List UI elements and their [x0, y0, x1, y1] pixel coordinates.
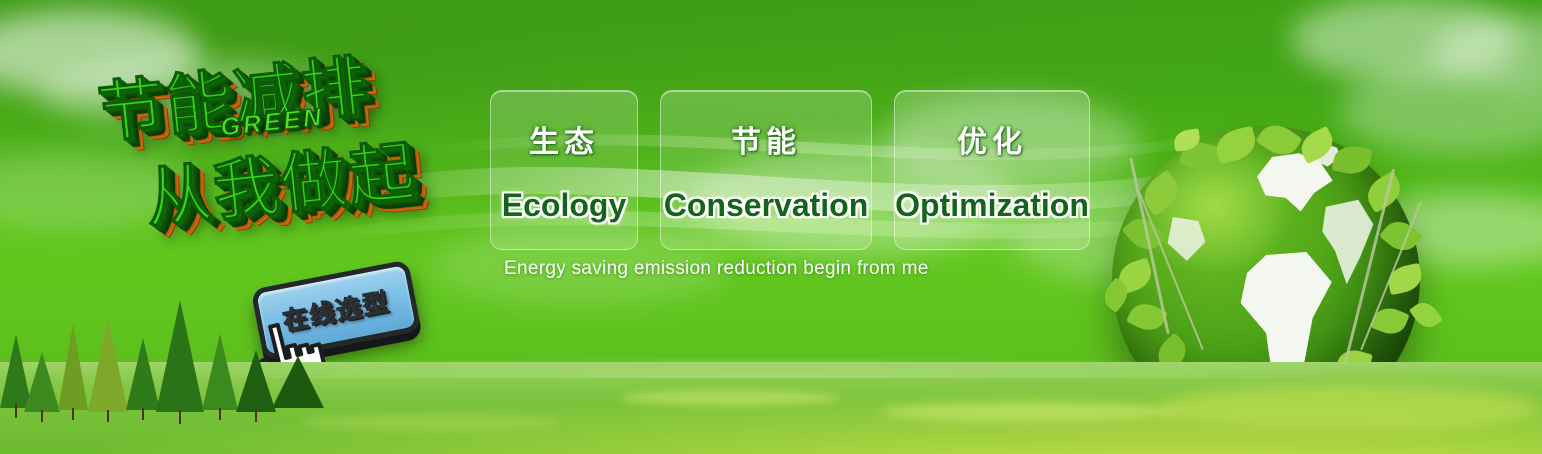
cloud-icon — [1290, 0, 1520, 82]
banner-tagline: Energy saving emission reduction begin f… — [504, 258, 929, 280]
grass-texture — [1160, 384, 1540, 432]
feature-cards: 生态 Ecology 节能 Conservation 优化 Optimizati… — [490, 90, 1090, 250]
feature-card-en-label: Optimization — [895, 187, 1089, 224]
tree-trunk — [41, 410, 43, 422]
online-selection-label: 在线选型 — [280, 282, 393, 338]
tree-trunk — [15, 404, 17, 418]
grass-texture — [620, 390, 840, 406]
feature-card-conservation[interactable]: 节能 Conservation — [660, 90, 872, 250]
feature-card-en-label: Ecology — [502, 187, 626, 224]
cloud-icon — [1430, 16, 1542, 86]
tree-trunk — [142, 408, 144, 420]
tree-trunk — [72, 408, 74, 420]
feature-card-cn-label: 生态 — [529, 117, 599, 161]
feature-card-optimization[interactable]: 优化 Optimization — [894, 90, 1090, 250]
grass-texture — [1000, 424, 1420, 446]
feature-card-en-label: Conservation — [664, 187, 868, 224]
headline-artwork: 节能减排 GREEN 从我做起 — [85, 18, 507, 294]
feature-card-cn-label: 节能 — [731, 117, 801, 161]
tree-trunk — [255, 410, 257, 422]
grass-texture — [300, 414, 560, 430]
feature-card-ecology[interactable]: 生态 Ecology — [490, 90, 638, 250]
feature-card-cn-label: 优化 — [957, 117, 1027, 161]
tree-trunk — [179, 410, 181, 424]
green-energy-banner: 节能减排 GREEN 从我做起 在线选型 生态 Ecology 节能 Conse… — [0, 0, 1542, 454]
grass-texture — [880, 402, 1180, 422]
grass-field — [0, 362, 1542, 454]
tree-trunk — [107, 410, 109, 422]
tree-trunk — [219, 408, 221, 420]
